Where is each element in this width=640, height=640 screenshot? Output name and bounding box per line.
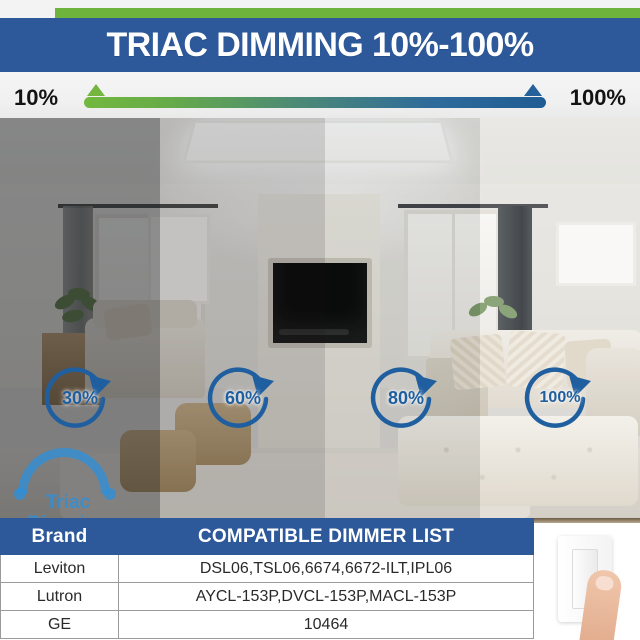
slider-max-marker-icon: [524, 84, 542, 96]
slider-min-label: 10%: [14, 85, 58, 111]
cell-dimmers: AYCL-153P,DVCL-153P,MACL-153P: [119, 583, 534, 611]
cell-brand: Leviton: [1, 555, 119, 583]
arc-icon: [18, 448, 110, 494]
dim-level-label: 30%: [43, 361, 117, 435]
dim-level-badge-100: 100%: [523, 361, 597, 435]
dimming-range-bar: 10% 100%: [0, 72, 640, 118]
dim-level-label: 100%: [523, 361, 597, 435]
column-header-brand: Brand: [1, 519, 119, 555]
triac-dimming-watermark: Triac Dimming: [8, 448, 128, 518]
slider-min-marker-icon: [87, 84, 105, 96]
dim-level-label: 80%: [369, 361, 443, 435]
dim-level-badge-60: 60%: [206, 361, 280, 435]
photo-top-edge: [534, 518, 640, 523]
watermark-text: Triac Dimming: [8, 492, 128, 518]
table-row: Lutron AYCL-153P,DVCL-153P,MACL-153P: [1, 583, 534, 611]
watermark-line-1: Triac: [46, 492, 90, 513]
slider-max-label: 100%: [570, 85, 626, 111]
wall-mounted-tv: [268, 258, 372, 348]
cell-brand: Lutron: [1, 583, 119, 611]
pouf-ottoman-b: [120, 430, 196, 492]
page-title: TRIAC DIMMING 10%-100%: [107, 26, 534, 65]
cell-dimmers: DSL06,TSL06,6674,6672-ILT,IPL06: [119, 555, 534, 583]
dim-level-badge-80: 80%: [369, 361, 443, 435]
dim-level-label: 60%: [206, 361, 280, 435]
title-banner: TRIAC DIMMING 10%-100%: [0, 18, 640, 72]
column-header-dimmer-list: COMPATIBLE DIMMER LIST: [119, 519, 534, 555]
compatible-dimmer-table: Brand COMPATIBLE DIMMER LIST Leviton DSL…: [0, 518, 534, 640]
wall-art-right: [556, 222, 636, 286]
table-row: Leviton DSL06,TSL06,6674,6672-ILT,IPL06: [1, 555, 534, 583]
cell-brand: GE: [1, 611, 119, 639]
cell-dimmers: 10464: [119, 611, 534, 639]
dim-level-badge-30: 30%: [43, 361, 117, 435]
slider-track[interactable]: [84, 97, 546, 108]
led-panel-light: [182, 121, 454, 163]
living-room-photo: Triac Dimming 30% 60% 80%: [0, 118, 640, 518]
table-header-row: Brand COMPATIBLE DIMMER LIST: [1, 519, 534, 555]
infographic-page: TRIAC DIMMING 10%-100% 10% 100%: [0, 0, 640, 640]
armchair-cushion: [103, 303, 153, 341]
dimmer-switch-photo: [534, 518, 640, 640]
sofa-pillow: [449, 333, 506, 390]
wall-art-left: [148, 214, 210, 304]
table-row: GE 10464: [1, 611, 534, 639]
